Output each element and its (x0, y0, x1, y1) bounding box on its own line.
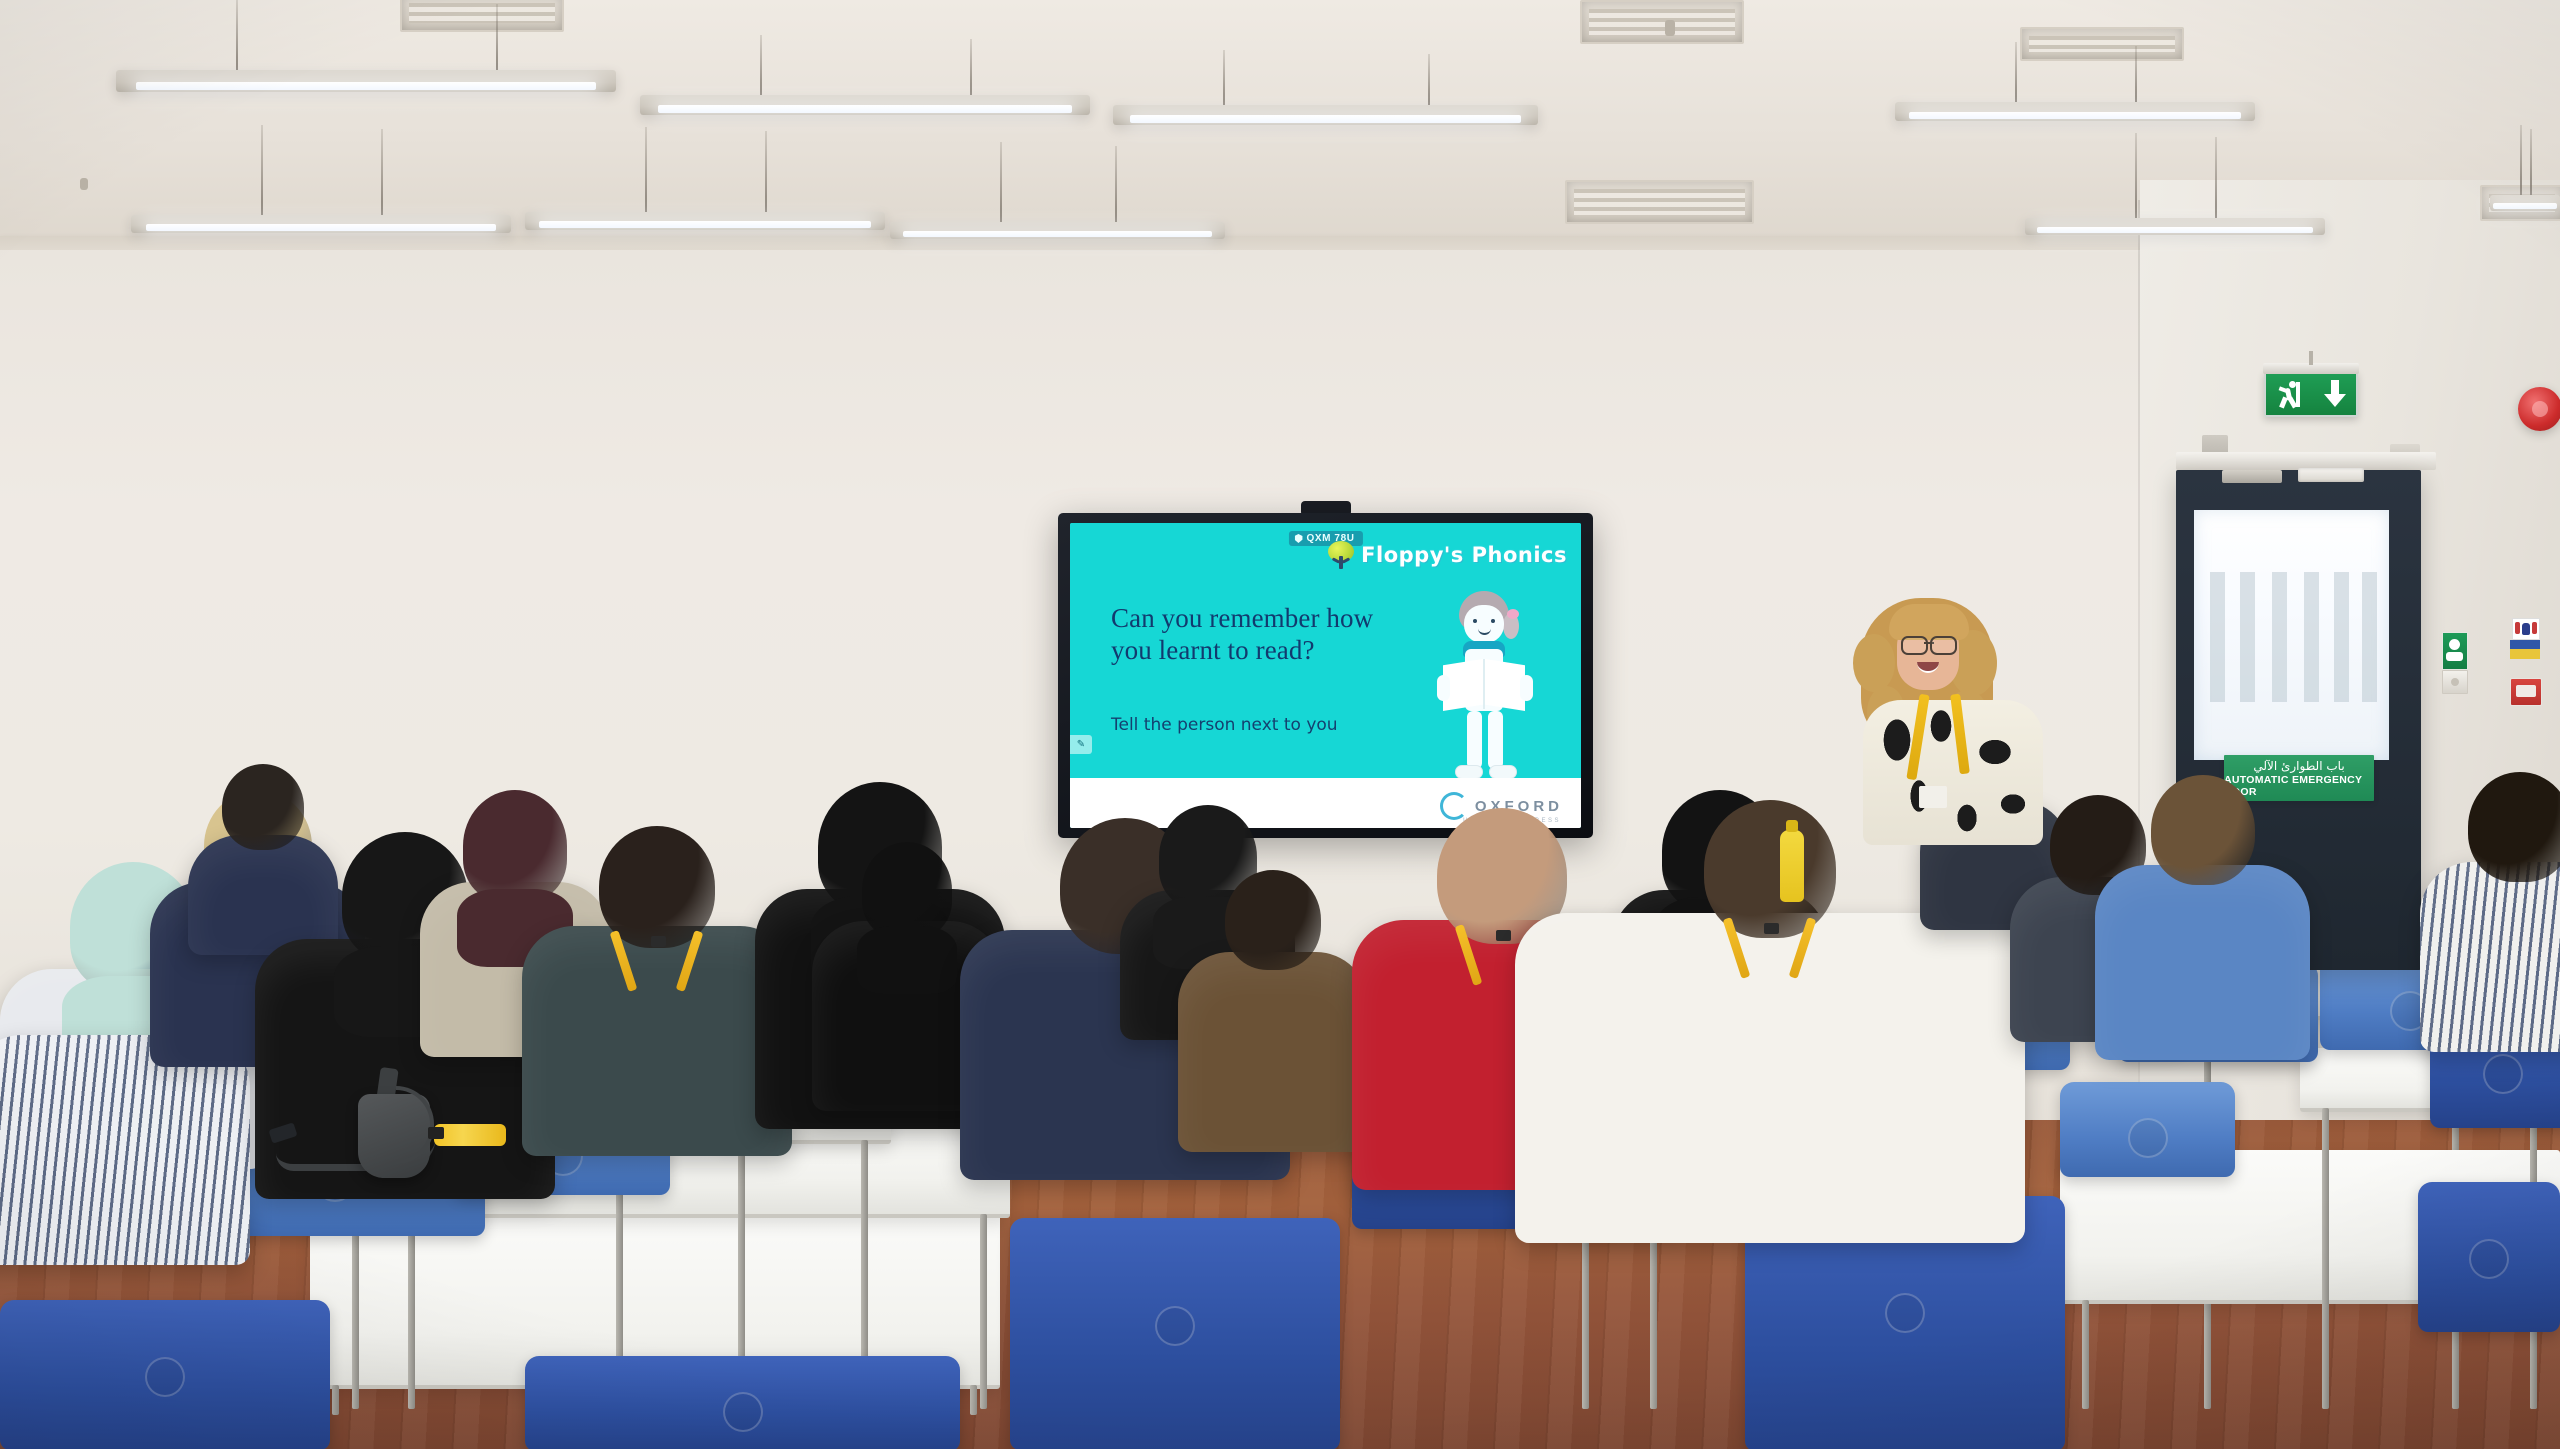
attendee-striped-right-torso (2420, 862, 2560, 1052)
chair-handle-cutout (2128, 1118, 2168, 1158)
light-tube (1130, 115, 1521, 123)
pendant-light-6-wire-a (1000, 142, 1002, 222)
pendant-light-9 (2490, 195, 2560, 211)
ceiling-vent-2 (1580, 0, 1744, 44)
attendee-blue-tee (2095, 775, 2310, 1080)
chair-handle-cutout (145, 1357, 185, 1397)
light-tube (903, 231, 1211, 237)
running-man-exit-icon (2277, 380, 2303, 408)
vent-slats (1574, 189, 1745, 215)
display-screen[interactable]: QXM 78U Floppy's Phonics Can you remembe… (1070, 523, 1581, 828)
vent-slats (409, 3, 555, 23)
child-reading-illustration (1437, 591, 1533, 791)
pendant-light-4-wire-b (765, 131, 767, 212)
water-bottle (1780, 830, 1804, 902)
chair-front-left-b[interactable] (525, 1356, 960, 1449)
pendant-light-2-wire-b (381, 129, 383, 215)
table-mid-left-leg-1 (352, 1214, 359, 1409)
power-socket-strip[interactable] (2298, 468, 2364, 482)
fire-alarm-call-point[interactable] (2510, 678, 2542, 706)
table-mid-left-leg-2 (980, 1214, 987, 1409)
light-tube (2037, 227, 2313, 233)
tree-icon (1328, 541, 1354, 569)
slide-subheading: Tell the person next to you (1111, 715, 1338, 735)
light-tube (658, 105, 1072, 113)
chair-handle-cutout (1885, 1293, 1925, 1333)
pendant-light-1-wire-b (496, 4, 498, 70)
pendant-light-3-wire-b (970, 39, 972, 95)
presenter (1845, 590, 2065, 840)
attendee-leopard-torso (1178, 952, 1368, 1152)
door-glass-panel (2194, 510, 2389, 760)
pendant-light-7-wire-a (2015, 42, 2017, 102)
pendant-light-1-wire-a (236, 0, 238, 70)
fire-alarm-bell (2518, 387, 2560, 431)
vent-slats (1589, 9, 1735, 35)
exit-sign-rod (2309, 351, 2313, 365)
light-tube (539, 221, 870, 228)
brand-name: Floppy's Phonics (1361, 543, 1567, 567)
attendee-kandura-head (1704, 800, 1836, 938)
light-tube (2493, 203, 2557, 209)
attendee-kandura-badge-clip (1764, 923, 1779, 934)
slide-body: QXM 78U Floppy's Phonics Can you remembe… (1070, 523, 1581, 778)
chair-handle-cutout (1155, 1306, 1195, 1346)
attendee-leopard-head (1225, 870, 1321, 970)
ceiling-vent-4 (2020, 27, 2184, 61)
door-sign-arabic: باب الطوارئ الآلي (2253, 759, 2344, 773)
attendee-red-shirt-badge-clip (1496, 930, 1511, 941)
emergency-exit-sign (2264, 371, 2358, 417)
chair-handle-cutout (2469, 1239, 2509, 1279)
sprinkler-head-2 (80, 178, 88, 190)
no-smoking-sign (2508, 618, 2542, 666)
shield-icon (1294, 534, 1302, 543)
pendant-light-5 (1113, 105, 1538, 125)
ceiling-vent-3 (1565, 180, 1754, 224)
classroom-scene: باب الطوارئ الآلي AUTOMATIC EMERGENCY DO… (0, 0, 2560, 1449)
table-far-right-leg-1 (2322, 1108, 2329, 1409)
ceiling-vent-1 (400, 0, 564, 32)
lanyard-on-table (434, 1124, 506, 1146)
pendant-light-3 (640, 95, 1090, 115)
pendant-light-8 (2025, 218, 2325, 235)
chair-far-right[interactable] (2418, 1182, 2560, 1332)
table-front-left-leg-1 (332, 1385, 339, 1415)
pendant-light-1 (116, 70, 616, 92)
attendee-leopard (1178, 870, 1368, 1170)
chair-front-mid[interactable] (1010, 1218, 1340, 1449)
down-arrow-icon (2324, 380, 2346, 408)
wall-display[interactable]: QXM 78U Floppy's Phonics Can you remembe… (1058, 513, 1593, 838)
attendee-abaya-mid2-hijab-drape (857, 926, 958, 993)
handbag (352, 1064, 438, 1180)
pendant-light-6-wire-b (1115, 146, 1117, 222)
pendant-light-4-wire-a (645, 127, 647, 212)
chair-front-left-a[interactable] (0, 1300, 330, 1449)
pendant-light-8-wire-b (2215, 137, 2217, 218)
attendee-striped-right (2420, 772, 2560, 1072)
pencil-icon[interactable]: ✎ (1070, 735, 1092, 754)
attendee-blue-tee-head (2151, 775, 2255, 885)
table-front-left-leg-2 (970, 1385, 977, 1415)
attendee-man-teal (522, 826, 792, 1178)
table-right-front-leg-1 (2082, 1300, 2089, 1409)
pendant-light-3-wire-a (760, 35, 762, 95)
pendant-light-7-wire-b (2135, 46, 2137, 102)
first-aid-sign (2442, 632, 2468, 670)
attendee-abaya-mid2-head (862, 842, 952, 938)
pendant-light-2 (131, 215, 511, 233)
presenter-badge (1919, 786, 1947, 808)
sprinkler-head (1665, 20, 1675, 36)
pendant-light-5-wire-a (1223, 50, 1225, 105)
light-tube (136, 82, 596, 90)
chair-right-d[interactable] (2060, 1082, 2235, 1177)
pendant-light-6 (890, 222, 1225, 239)
pendant-light-5-wire-b (1428, 54, 1430, 105)
light-tube (1909, 112, 2240, 119)
attendee-blue-tee-torso (2095, 865, 2310, 1060)
glasses-icon (1901, 636, 1957, 652)
light-switch-plate[interactable] (2442, 670, 2468, 694)
attendee-man-teal-torso (522, 926, 792, 1156)
floppys-phonics-logo: Floppy's Phonics (1328, 541, 1567, 569)
attendee-man-teal-badge-clip (651, 936, 666, 947)
door-closer-arm (2222, 470, 2282, 483)
light-tube (146, 224, 496, 231)
pendant-light-9-wire-a (2520, 125, 2522, 195)
vent-slats (2029, 36, 2175, 52)
pendant-light-4 (525, 212, 885, 230)
attendee-striped-right-head (2468, 772, 2560, 882)
pendant-light-9-wire-b (2530, 129, 2532, 195)
pendant-light-8-wire-a (2135, 133, 2137, 218)
presenter-fringe (1889, 604, 1969, 640)
pendant-light-2-wire-a (261, 125, 263, 215)
pendant-light-7 (1895, 102, 2255, 121)
slide-heading: Can you remember how you learnt to read? (1111, 603, 1401, 667)
chair-handle-cutout (723, 1392, 763, 1432)
attendee-kandura-torso (1515, 913, 2025, 1243)
